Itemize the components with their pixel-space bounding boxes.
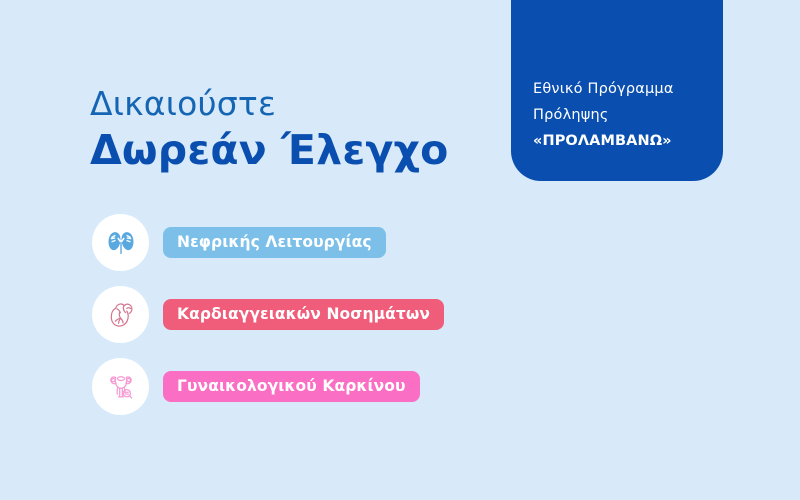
uterus-icon (92, 358, 149, 415)
service-label-cardio: Καρδιαγγειακών Νοσημάτων (163, 299, 444, 330)
headline-block: Δικαιούστε Δωρεάν Έλεγχο (90, 84, 490, 174)
service-item-kidney: Νεφρικής Λειτουργίας (92, 206, 444, 278)
program-title-line-2: Πρόληψης (533, 102, 609, 128)
program-name: «ΠΡΟΛΑΜΒΑΝΩ» (533, 128, 672, 181)
program-panel: Εθνικό Πρόγραμμα Πρόληψης «ΠΡΟΛΑΜΒΑΝΩ» (511, 0, 723, 181)
kidneys-icon (92, 214, 149, 271)
service-label-gynae: Γυναικολογικού Καρκίνου (163, 371, 420, 402)
service-item-cardio: Καρδιαγγειακών Νοσημάτων (92, 278, 444, 350)
anatomical-heart-icon (92, 286, 149, 343)
headline-line-2: Δωρεάν Έλεγχο (90, 126, 490, 174)
headline-line-1: Δικαιούστε (90, 84, 490, 124)
service-label-kidney: Νεφρικής Λειτουργίας (163, 227, 386, 258)
service-item-gynae: Γυναικολογικού Καρκίνου (92, 350, 444, 422)
services-list: Νεφρικής Λειτουργίας (92, 206, 444, 422)
promo-banner: Εθνικό Πρόγραμμα Πρόληψης «ΠΡΟΛΑΜΒΑΝΩ» Δ… (0, 0, 800, 500)
program-title-line-1: Εθνικό Πρόγραμμα (533, 76, 674, 102)
